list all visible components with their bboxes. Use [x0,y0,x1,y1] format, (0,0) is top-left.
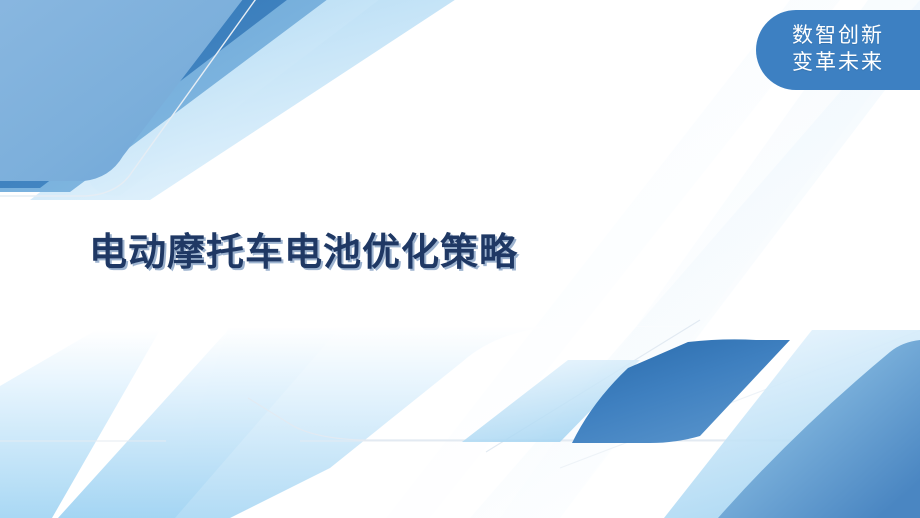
slide-canvas: 数智创新 变革未来 电动摩托车电池优化策略 [0,0,920,518]
slide-title: 电动摩托车电池优化策略 [89,231,518,277]
brand-badge-line-1: 数智创新 [792,23,884,50]
brand-badge: 数智创新 变革未来 [756,10,920,90]
brand-badge-line-2: 变革未来 [792,50,884,77]
